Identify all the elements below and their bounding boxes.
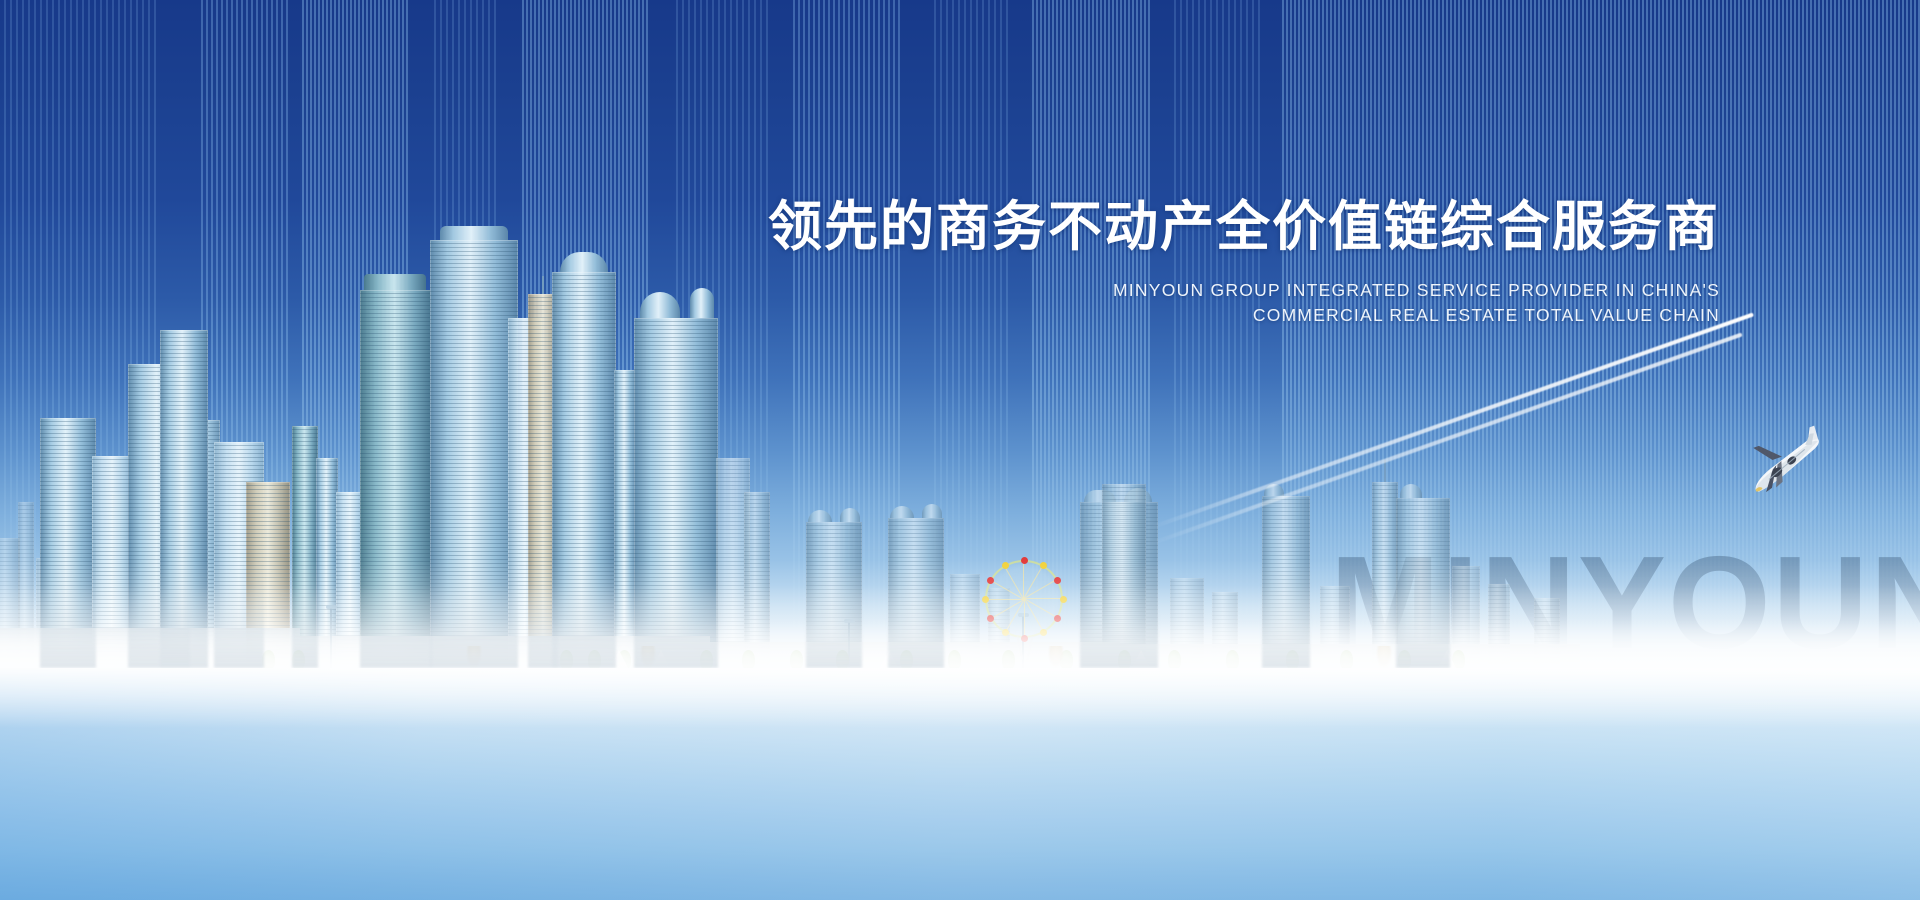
water-surface: [0, 668, 1920, 900]
water-tint: [0, 668, 1920, 900]
hero-banner: MINYOUN: [0, 0, 1920, 900]
